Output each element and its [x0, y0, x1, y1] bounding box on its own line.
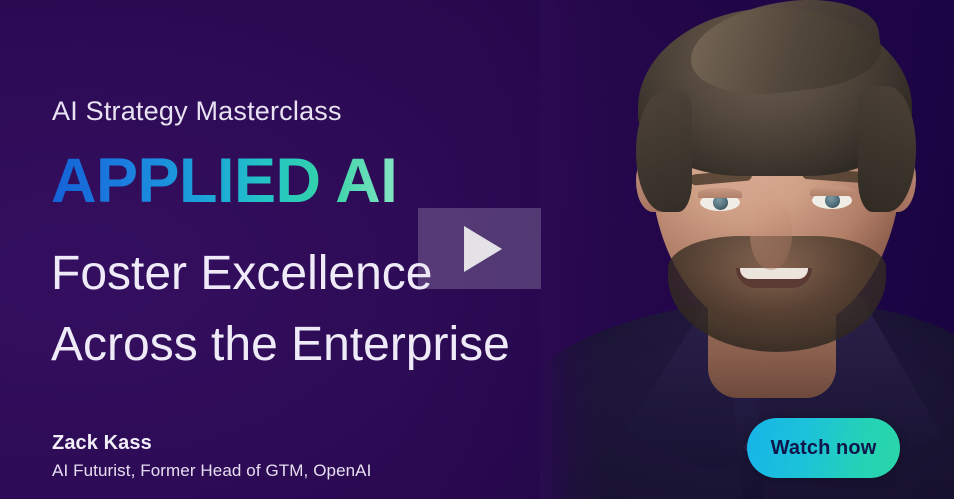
- speaker-title: AI Futurist, Former Head of GTM, OpenAI: [52, 461, 371, 481]
- play-triangle-icon: [464, 226, 502, 272]
- page-title: APPLIED AI: [51, 150, 397, 213]
- eyelid-left: [698, 188, 742, 198]
- promo-banner[interactable]: AI Strategy Masterclass APPLIED AI Foste…: [0, 0, 954, 499]
- hair-side-right: [858, 86, 916, 212]
- speaker-name: Zack Kass: [52, 432, 152, 455]
- eyelid-right: [810, 186, 854, 196]
- watch-now-button[interactable]: Watch now: [747, 418, 900, 478]
- nose: [750, 200, 792, 270]
- speaker-portrait: [540, 0, 954, 499]
- mouth: [736, 268, 812, 288]
- video-play-button[interactable]: [418, 208, 541, 289]
- subheadline-line-2: Across the Enterprise: [51, 309, 510, 380]
- eyebrow-text: AI Strategy Masterclass: [52, 96, 342, 127]
- hair-side-left: [636, 92, 692, 212]
